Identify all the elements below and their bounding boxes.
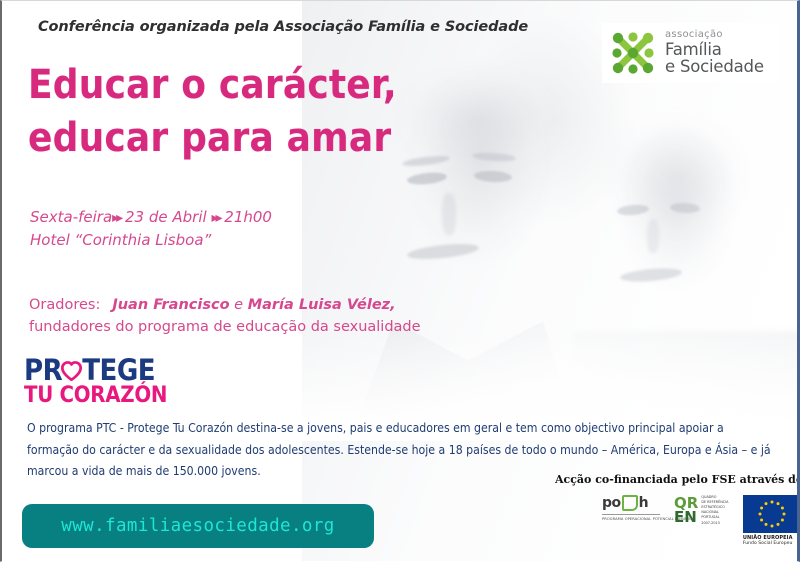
poph-subtitle: PROGRAMA OPERACIONAL POTENCIAL HUMANO [602, 517, 660, 521]
conference-poster: Conferência organizada pela Associação F… [0, 0, 800, 562]
event-weekday: Sexta-feira [30, 208, 112, 226]
poph-square-icon [622, 495, 638, 511]
eu-flag-icon [743, 495, 800, 533]
website-button[interactable]: www.familiaesociedade.org [22, 504, 374, 548]
page-title: Educar o carácter, educar para amar [28, 59, 397, 165]
qren-letters-bottom: EN [674, 510, 698, 524]
eu-caption-2: Fundo Social Europeu [743, 541, 800, 546]
event-date: 23 de Abril [125, 208, 207, 226]
poph-rule [602, 514, 660, 515]
arrow-separator-2-icon: ▸▸ [211, 210, 219, 226]
speaker-name-1: Juan Francisco [112, 297, 229, 313]
ptc-word-pre: PR [24, 356, 62, 385]
funding-logos: po h PROGRAMA OPERACIONAL POTENCIAL HUMA… [602, 495, 800, 546]
poph-word-post: h [639, 495, 648, 511]
ptc-wordmark-bottom: TU CORAZÓN [24, 385, 196, 407]
speaker-name-2: María Luisa Vélez, [248, 297, 396, 313]
speakers-block: Oradores:Juan Francisco e María Luisa Vé… [29, 294, 421, 339]
eu-logo: UNIÃO EUROPEIA Fundo Social Europeu [743, 495, 800, 546]
ptc-word-post: TEGE [82, 356, 155, 385]
photo-woman-face [590, 99, 758, 347]
speakers-conjunction: e [230, 297, 248, 313]
qren-subtitle: QUADRO DE REFERÊNCIA ESTRATÉGICO NACIONA… [701, 495, 729, 526]
qren-sub-5: PORTUGAL 2007-2013 [701, 515, 729, 525]
protege-tu-corazon-logo: PR TEGE TU CORAZÓN [24, 357, 196, 407]
title-line-2: educar para amar [28, 112, 397, 165]
ptc-wordmark-top: PR TEGE [24, 357, 196, 383]
title-line-1: Educar o carácter, [28, 59, 397, 112]
website-url-label: www.familiaesociedade.org [61, 516, 334, 536]
heart-icon [61, 361, 82, 381]
speakers-names-line: Oradores:Juan Francisco e María Luisa Vé… [29, 294, 421, 316]
pinwheel-cross-icon [608, 28, 658, 78]
associacao-familia-sociedade-logo: associação Família e Sociedade [602, 23, 780, 83]
photo-woman-nose [647, 219, 659, 253]
speakers-label: Oradores: [29, 297, 100, 313]
speakers-role: fundadores do programa de educação da se… [29, 316, 421, 338]
event-datetime-block: Sexta-feira▸▸ 23 de Abril ▸▸ 21h00 Hotel… [30, 206, 272, 252]
event-datetime-line: Sexta-feira▸▸ 23 de Abril ▸▸ 21h00 [30, 206, 272, 229]
event-time: 21h00 [224, 208, 272, 226]
assoc-line-2: Família [665, 41, 764, 58]
assoc-line-3: e Sociedade [665, 58, 764, 75]
organizer-kicker: Conferência organizada pela Associação F… [38, 19, 528, 35]
funding-statement: Acção co-financiada pelo FSE através do … [555, 473, 800, 486]
poph-word-pre: po [602, 495, 621, 511]
qren-logo: QR EN QUADRO DE REFERÊNCIA ESTRATÉGICO N… [674, 495, 729, 526]
poph-logo: po h PROGRAMA OPERACIONAL POTENCIAL HUMA… [602, 495, 660, 521]
qren-letters: QR EN [674, 496, 698, 525]
photo-man-nose [442, 193, 456, 235]
assoc-logo-text: associação Família e Sociedade [665, 30, 764, 75]
event-venue: Hotel “Corinthia Lisboa” [30, 229, 272, 252]
arrow-separator-1-icon: ▸▸ [112, 210, 120, 226]
poph-wordmark: po h [602, 495, 660, 511]
